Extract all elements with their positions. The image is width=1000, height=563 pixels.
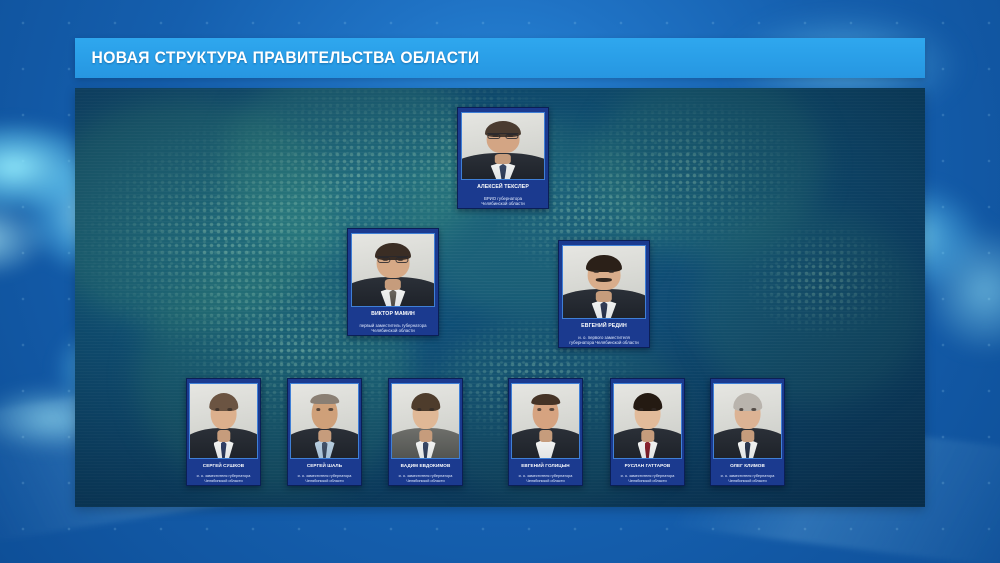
person-photo: [511, 383, 580, 459]
person-photo: [351, 233, 435, 307]
person-name: СЕРГЕЙ ШАЛЬ: [307, 464, 342, 469]
person-photo: [613, 383, 682, 459]
person-photo: [713, 383, 782, 459]
person-name: ВИКТОР МАМИН: [371, 312, 415, 317]
slide-title-bar: НОВАЯ СТРУКТУРА ПРАВИТЕЛЬСТВА ОБЛАСТИ: [75, 38, 925, 78]
person-card-governor[interactable]: АЛЕКСЕЙ ТЕКСЛЕР ВРИО губернатора Челябин…: [457, 107, 549, 209]
person-card-first-deputy-1[interactable]: ВИКТОР МАМИН первый заместитель губернат…: [347, 228, 439, 336]
person-card-first-deputy-2[interactable]: ЕВГЕНИЙ РЕДИН и. о. первого заместителя …: [558, 240, 650, 348]
person-name: РУСЛАН ГАТТАРОВ: [625, 464, 671, 469]
person-name: ВАДИМ ЕВДОКИМОВ: [401, 464, 451, 469]
person-name: АЛЕКСЕЙ ТЕКСЛЕР: [477, 185, 529, 190]
person-name: ЕВГЕНИЙ ГОЛИЦЫН: [521, 464, 569, 469]
person-name: ЕВГЕНИЙ РЕДИН: [581, 324, 627, 329]
person-photo: [290, 383, 359, 459]
page-title: НОВАЯ СТРУКТУРА ПРАВИТЕЛЬСТВА ОБЛАСТИ: [75, 48, 480, 68]
infographic-slide: НОВАЯ СТРУКТУРА ПРАВИТЕЛЬСТВА ОБЛАСТИ: [0, 0, 1000, 563]
person-card-deputy-5[interactable]: РУСЛАН ГАТТАРОВ и. о. заместителя губерн…: [610, 378, 685, 486]
person-card-deputy-3[interactable]: ВАДИМ ЕВДОКИМОВ и. о. заместителя губерн…: [388, 378, 463, 486]
person-role-line2: Челябинской области: [403, 479, 447, 484]
person-role-line2: Челябинской области: [201, 479, 245, 484]
person-card-deputy-1[interactable]: СЕРГЕЙ СУШКОВ и. о. заместителя губернат…: [186, 378, 261, 486]
person-role-line2: Челябинской области: [523, 479, 567, 484]
person-name: ОЛЕГ КЛИМОВ: [730, 464, 765, 469]
person-photo: [461, 112, 545, 180]
person-role-line2: Челябинской области: [625, 479, 669, 484]
person-card-deputy-2[interactable]: СЕРГЕЙ ШАЛЬ и. о. заместителя губернатор…: [287, 378, 362, 486]
person-role-line2: Челябинской области: [725, 479, 769, 484]
person-role-line2: Челябинской области: [478, 201, 527, 206]
person-card-deputy-6[interactable]: ОЛЕГ КЛИМОВ и. о. заместителя губернатор…: [710, 378, 785, 486]
person-photo: [562, 245, 646, 319]
person-card-deputy-4[interactable]: ЕВГЕНИЙ ГОЛИЦЫН и. о. заместителя губерн…: [508, 378, 583, 486]
person-photo: [391, 383, 460, 459]
person-name: СЕРГЕЙ СУШКОВ: [203, 464, 244, 469]
org-chart-panel: АЛЕКСЕЙ ТЕКСЛЕР ВРИО губернатора Челябин…: [75, 88, 925, 507]
person-role-line2: Челябинской области: [368, 328, 417, 333]
person-role-line2: Челябинской области: [302, 479, 346, 484]
person-role-line2: губернатора Челябинской области: [566, 340, 641, 345]
person-photo: [189, 383, 258, 459]
